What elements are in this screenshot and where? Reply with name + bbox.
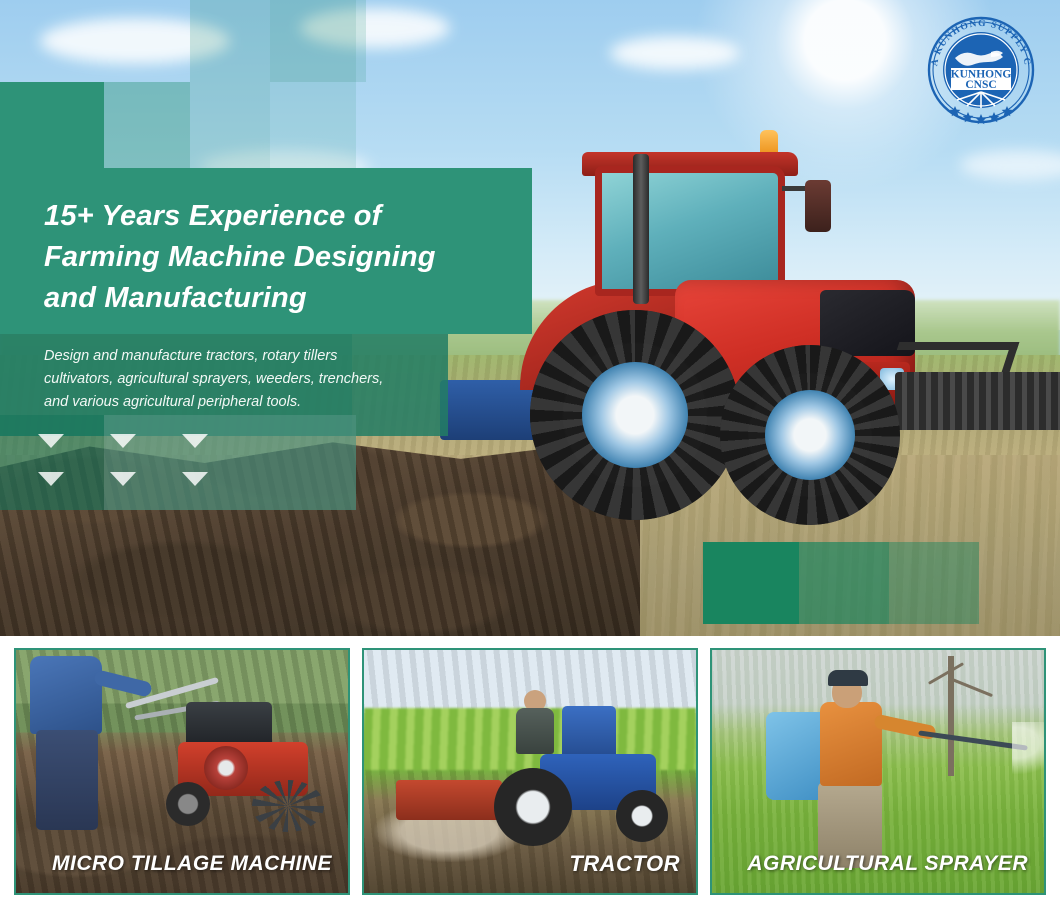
decor-block xyxy=(104,82,190,168)
tiller-wheel xyxy=(166,782,210,826)
headline-line: 15+ Years Experience of xyxy=(44,196,524,237)
operator-legs xyxy=(36,730,98,830)
circular-seal-globe-icon: KUNHONG CNSC xyxy=(925,14,1037,126)
decor-block xyxy=(356,0,366,82)
promo-banner: 15+ Years Experience of Farming Machine … xyxy=(0,0,1060,903)
card-label: TRACTOR xyxy=(364,839,696,893)
chevron-down-triangle-icon xyxy=(110,472,136,486)
card-label: MICRO TILLAGE MACHINE xyxy=(16,839,348,893)
hero-subtext: Design and manufacture tractors, rotary … xyxy=(44,345,474,414)
headline-line: and Manufacturing xyxy=(44,278,524,319)
arrows-panel-light xyxy=(104,415,356,510)
subtext-line: Design and manufacture tractors, rotary … xyxy=(44,345,474,368)
logo-center-line2: CNSC xyxy=(965,79,996,91)
tiller-flywheel xyxy=(204,746,248,790)
operator-torso xyxy=(820,702,882,786)
tractor-image xyxy=(520,130,1060,530)
decor-block xyxy=(190,0,270,168)
product-card-micro-tillage-machine[interactable]: MICRO TILLAGE MACHINE xyxy=(14,648,350,895)
subtext-line: and various agricultural peripheral tool… xyxy=(44,391,474,414)
chevron-down-triangle-icon xyxy=(38,434,64,448)
decor-green-block xyxy=(889,542,979,624)
product-card-row: MICRO TILLAGE MACHINE TRACTOR xyxy=(0,636,1060,903)
product-card-tractor[interactable]: TRACTOR xyxy=(362,648,698,895)
exhaust-pipe xyxy=(633,154,649,304)
company-logo: KUNHONG CNSC xyxy=(925,14,1037,126)
subtext-line: cultivators, agricultural sprayers, weed… xyxy=(44,368,474,391)
tiller-tines xyxy=(252,780,324,832)
tree-trunk xyxy=(948,656,954,776)
decor-green-block xyxy=(703,542,799,624)
chevron-down-triangle-icon xyxy=(38,472,64,486)
hero-section: 15+ Years Experience of Farming Machine … xyxy=(0,0,1060,636)
page-title: 15+ Years Experience of Farming Machine … xyxy=(44,196,524,320)
tractor-cabin xyxy=(595,166,785,296)
cloud-shape xyxy=(610,36,740,70)
operator-cap xyxy=(828,670,868,686)
decor-block xyxy=(270,82,356,168)
red-implement xyxy=(396,780,502,820)
operator-shirt xyxy=(30,656,102,734)
product-card-agricultural-sprayer[interactable]: AGRICULTURAL SPRAYER xyxy=(710,648,1046,895)
front-hub xyxy=(765,390,855,480)
side-mirror xyxy=(805,180,831,232)
chevron-down-triangle-icon xyxy=(182,434,208,448)
decor-green-block xyxy=(799,542,889,624)
rear-wheel xyxy=(494,768,572,846)
headline-line: Farming Machine Designing xyxy=(44,237,524,278)
driver-torso xyxy=(516,708,554,754)
chevron-down-triangle-icon xyxy=(182,472,208,486)
rear-hub xyxy=(582,362,688,468)
chevron-down-triangle-icon xyxy=(110,434,136,448)
decor-block xyxy=(0,82,104,168)
front-wheel xyxy=(616,790,668,842)
spray-mist xyxy=(1012,722,1046,774)
card-label: AGRICULTURAL SPRAYER xyxy=(712,839,1044,893)
decor-block xyxy=(270,0,356,82)
front-ballast-weight xyxy=(895,372,1060,430)
